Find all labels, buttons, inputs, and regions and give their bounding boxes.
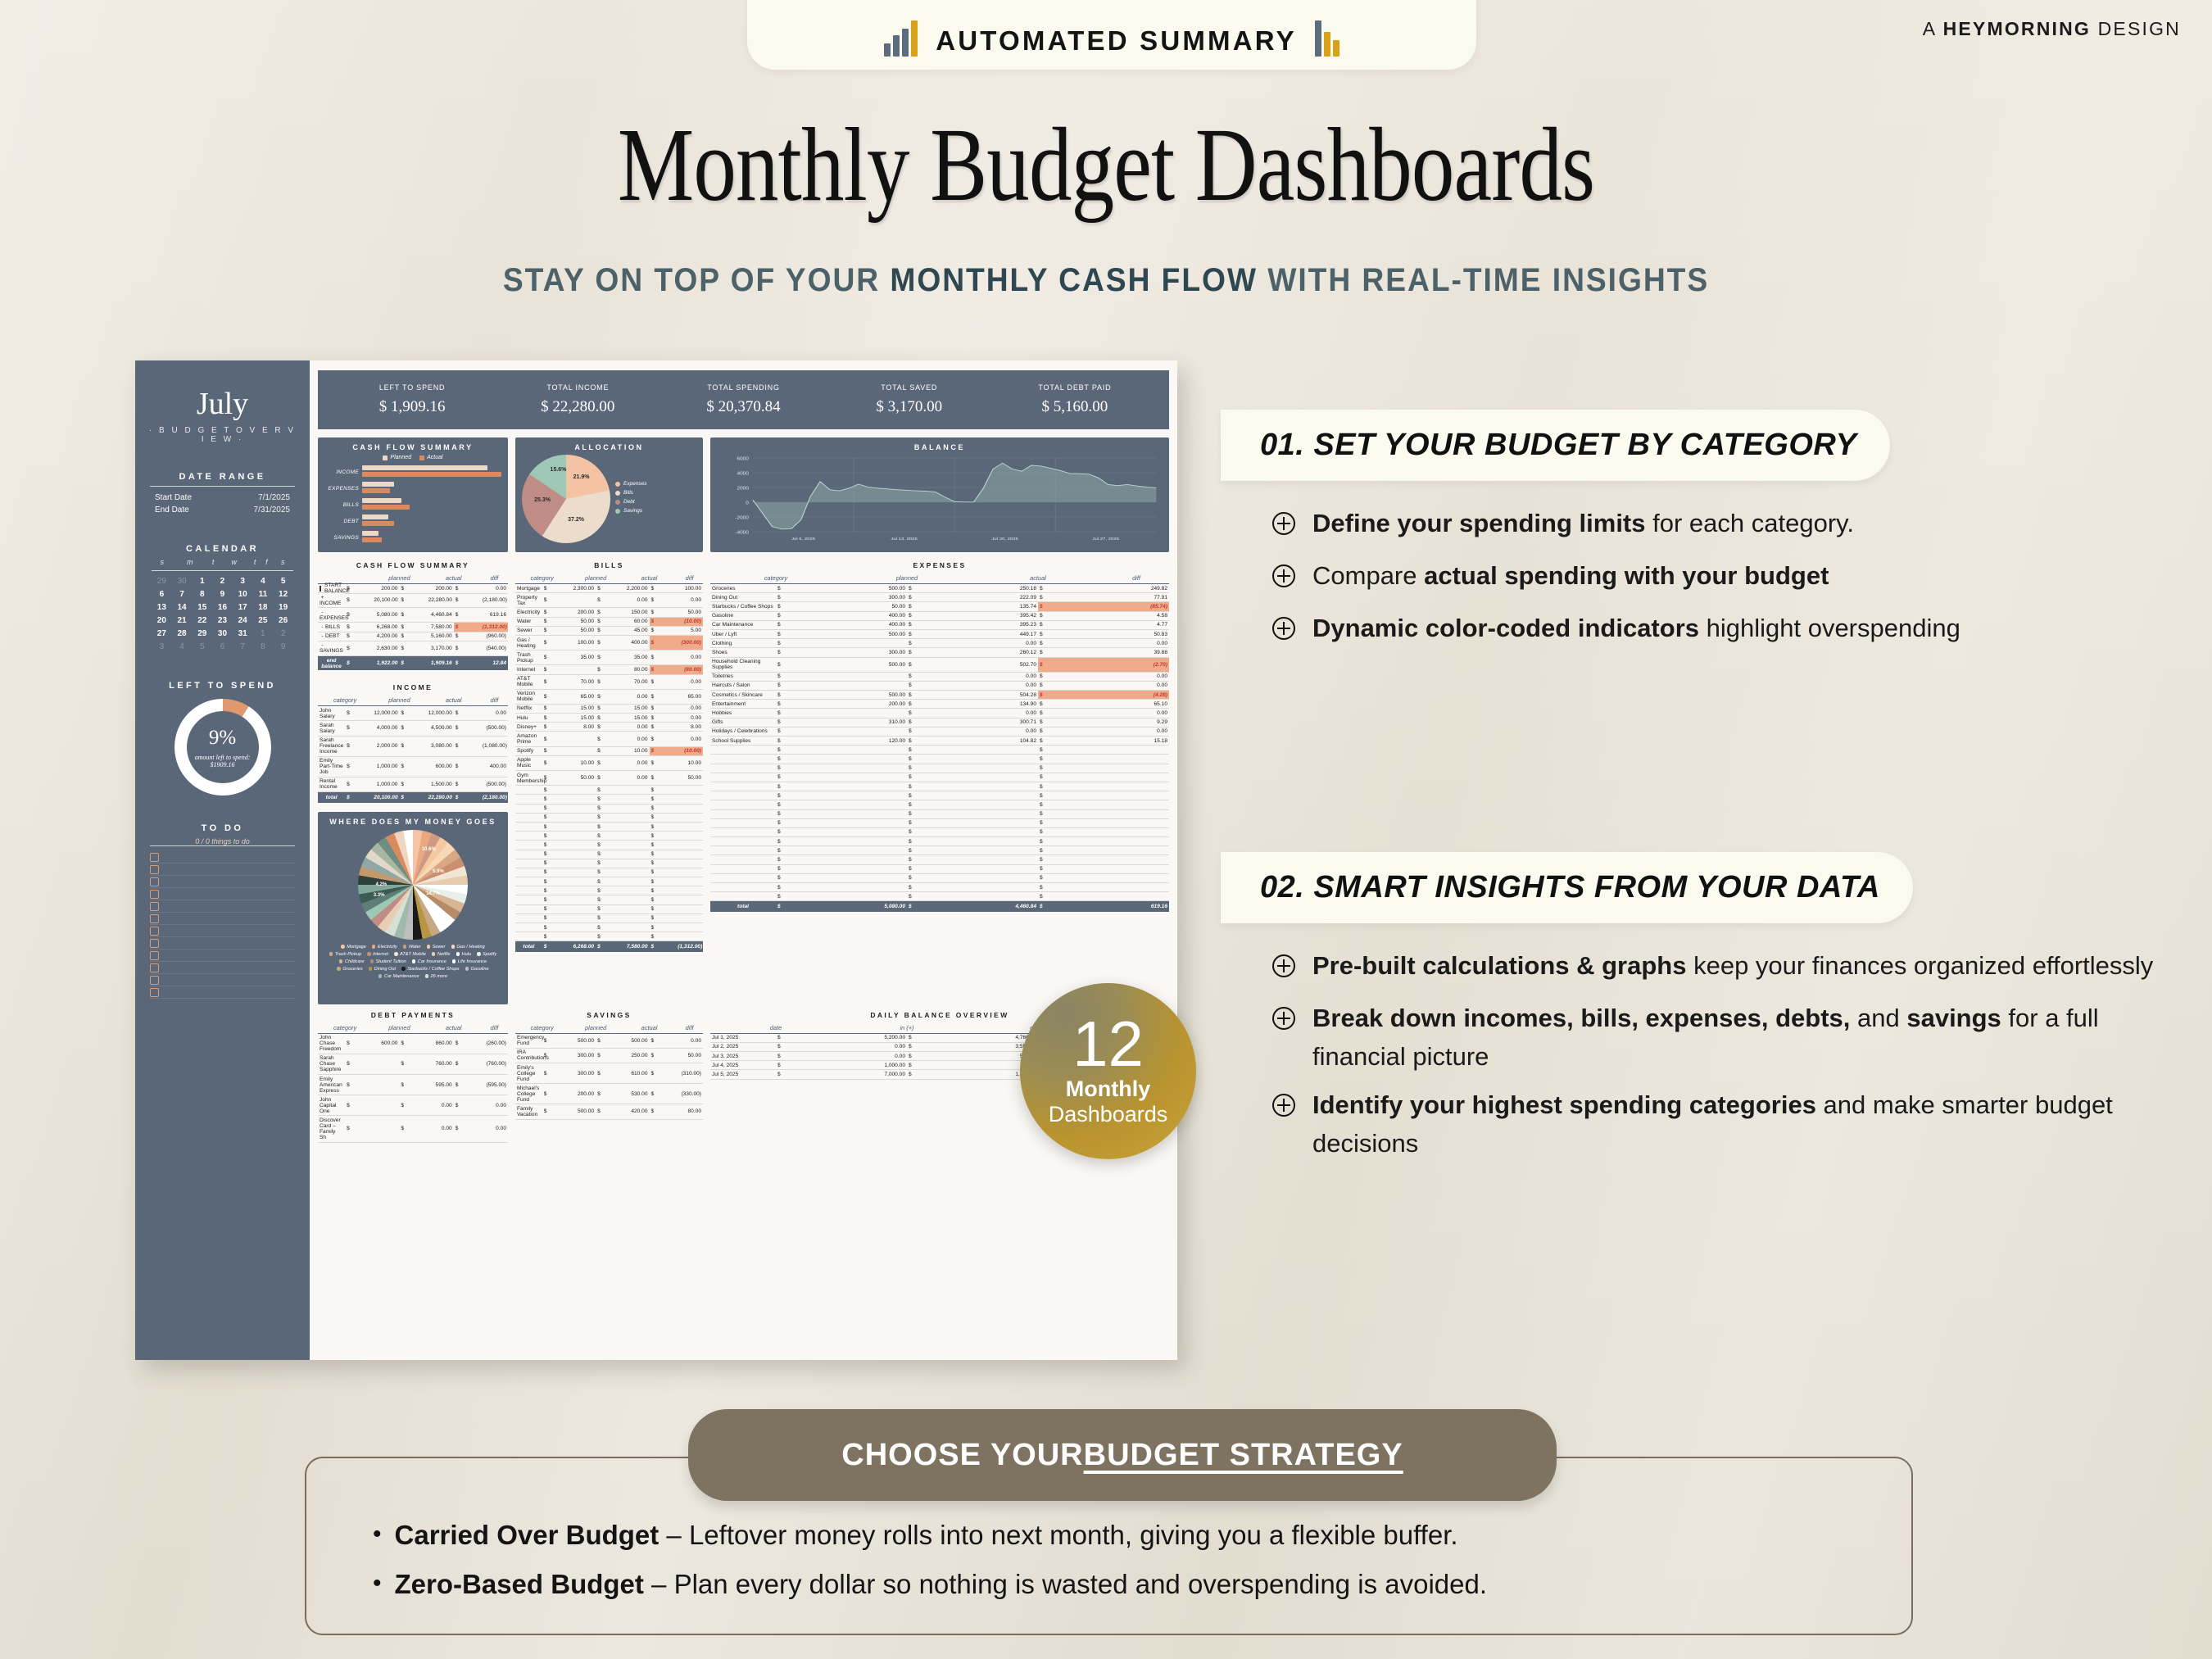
table-row[interactable]: John Capital One$$0.00$0.00	[318, 1095, 508, 1116]
cell-currency: $	[596, 608, 623, 617]
cell-category	[710, 773, 776, 782]
table-row[interactable]: Entertainment$200.00$134.90$65.10	[710, 700, 1169, 709]
dashboard-sidebar: July · B U D G E T O V E R V I E W · DAT…	[135, 360, 310, 1360]
cell-currency: $	[399, 736, 426, 756]
table-row[interactable]: $$$	[515, 886, 703, 895]
kpi-bar: LEFT TO SPEND$ 1,909.16TOTAL INCOME$ 22,…	[318, 370, 1169, 429]
page-title: Monthly Budget Dashboards	[199, 105, 2013, 225]
total-currency: $	[1038, 901, 1104, 912]
calendar-day[interactable]: 5	[192, 640, 212, 653]
table-row[interactable]: $$$	[710, 809, 1169, 818]
cell-currency: $	[907, 1033, 972, 1042]
cell-currency: $	[596, 755, 623, 770]
table-row[interactable]: Emergency Fund$500.00$500.00$0.00	[515, 1033, 703, 1048]
cell-currency: $	[650, 584, 677, 593]
calendar-dow: w	[219, 558, 249, 569]
table-row[interactable]: $$$	[515, 786, 703, 795]
todo-title: TO DO	[145, 823, 300, 833]
cell-value: 0.00	[623, 593, 650, 608]
cell-category	[515, 859, 542, 868]
calendar-day[interactable]: 26	[273, 614, 293, 627]
strategy-tab-bold: BUDGET STRATEGY	[1084, 1438, 1403, 1473]
todo-list[interactable]	[150, 851, 295, 999]
table-row[interactable]: $$$	[515, 795, 703, 804]
todo-item[interactable]	[150, 900, 295, 913]
cell-value	[841, 818, 907, 827]
table-row[interactable]: Sarah Chase Sapphire$$760.00$(760.00)	[318, 1054, 508, 1074]
cell-currency: $	[345, 1033, 372, 1054]
table-row[interactable]: Internet$$80.00$(80.00)	[515, 665, 703, 674]
calendar-day[interactable]: 13	[152, 601, 172, 614]
calendar-day[interactable]: 21	[172, 614, 193, 627]
date-range-title: DATE RANGE	[145, 472, 300, 482]
cell-currency: $	[542, 704, 569, 713]
cell-category: -BILLS	[318, 623, 345, 632]
cell-value: 0.00	[972, 672, 1038, 681]
calendar-day[interactable]: 30	[212, 627, 233, 640]
debt-table[interactable]: categoryplannedactualdiffJohn Chase Free…	[318, 1024, 508, 1143]
feature-1-list: Define your spending limits for each cat…	[1229, 504, 2196, 651]
table-row[interactable]: IRA Contributions$300.00$250.00$50.00	[515, 1048, 703, 1063]
column-header: planned	[372, 1024, 426, 1034]
table-row[interactable]: Family Vacation$500.00$420.00$80.00	[515, 1104, 703, 1119]
savings-table[interactable]: categoryplannedactualdiffEmergency Fund$…	[515, 1024, 703, 1120]
cell-value: 0.00	[1104, 727, 1169, 736]
calendar-day[interactable]: 17	[233, 601, 253, 614]
legend-actual: Actual	[419, 455, 442, 460]
table-row[interactable]: $$$	[515, 813, 703, 822]
table-row[interactable]: $$$	[515, 904, 703, 913]
cell-currency: $	[596, 877, 623, 886]
table-row[interactable]: Gas / Heating$100.00$400.00$(300.00)	[515, 635, 703, 650]
table-row[interactable]: Car Maintenance$400.00$395.23$4.77	[710, 620, 1169, 629]
calendar-day[interactable]: 9	[212, 587, 233, 601]
table-row[interactable]: Sewer$50.00$45.00$5.00	[515, 626, 703, 635]
calendar-day[interactable]: 22	[192, 614, 212, 627]
calendar-day[interactable]: 25	[253, 614, 274, 627]
table-row[interactable]: Hobbies$$0.00$0.00	[710, 709, 1169, 718]
cell-value: 50.00	[676, 608, 703, 617]
table-row[interactable]: Holidays / Celebrations$$0.00$0.00	[710, 727, 1169, 736]
cell-value	[569, 665, 596, 674]
table-row[interactable]: $$$	[710, 883, 1169, 892]
cell-category	[710, 883, 776, 892]
table-header-row: categoryplannedactualdiff	[710, 574, 1169, 584]
calendar-day[interactable]: 19	[273, 601, 293, 614]
calendar[interactable]: smtwtfs 29301234567891011121314151617181…	[152, 558, 293, 653]
calendar-day[interactable]: 27	[152, 627, 172, 640]
cell-category: START BALANCE	[318, 584, 345, 593]
calendar-day[interactable]: 9	[273, 640, 293, 653]
cell-currency: $	[542, 755, 569, 770]
cell-value: 150.00	[623, 608, 650, 617]
table-row[interactable]: $$$	[710, 846, 1169, 855]
checkbox-icon[interactable]	[150, 927, 159, 936]
pie-slice-label: 5.9%	[433, 869, 444, 874]
calendar-day[interactable]: 29	[192, 627, 212, 640]
table-row[interactable]: School Supplies$120.00$104.82$15.18	[710, 737, 1169, 746]
todo-item[interactable]	[150, 925, 295, 937]
cell-value	[1104, 892, 1169, 901]
calendar-day[interactable]: 20	[152, 614, 172, 627]
cell-currency: $	[596, 723, 623, 732]
cashflow-table[interactable]: plannedactualdiffSTART BALANCE$200.00$20…	[318, 574, 508, 670]
checkbox-icon[interactable]	[150, 890, 159, 899]
calendar-day[interactable]: 11	[253, 587, 274, 601]
checkbox-icon[interactable]	[150, 853, 159, 862]
cell-currency: $	[650, 804, 677, 813]
table-row[interactable]: Netflix$15.00$15.00$0.00	[515, 704, 703, 713]
cell-currency: $	[542, 841, 569, 850]
total-currency: $	[399, 792, 426, 803]
calendar-day[interactable]: 24	[233, 614, 253, 627]
table-row[interactable]: Trash Pickup$35.00$35.00$0.00	[515, 650, 703, 665]
calendar-day[interactable]: 3	[233, 574, 253, 587]
cell-category: Gas / Heating	[515, 635, 542, 650]
bar-actual	[362, 537, 382, 542]
svg-text:6000: 6000	[737, 457, 748, 461]
checkbox-icon[interactable]	[320, 586, 321, 592]
cell-value: 504.28	[972, 691, 1038, 700]
debt-table-title: DEBT PAYMENTS	[318, 1011, 508, 1019]
todo-item[interactable]	[150, 950, 295, 962]
table-row[interactable]: $$$	[515, 895, 703, 904]
feature-bullet-text: Break down incomes, bills, expenses, deb…	[1312, 999, 2196, 1076]
kpi-card: TOTAL SAVED$ 3,170.00	[827, 383, 992, 416]
cell-value: 3,080.00	[427, 736, 454, 756]
cell-currency: $	[650, 795, 677, 804]
cell-currency: $	[542, 804, 569, 813]
calendar-day[interactable]: 2	[212, 574, 233, 587]
cell-value: 610.00	[623, 1063, 650, 1083]
plus-circle-icon	[1271, 613, 1296, 651]
end-date-value[interactable]: 7/31/2025	[254, 505, 291, 514]
table-row[interactable]: Emily's College Fund$300.00$610.00$(310.…	[515, 1063, 703, 1083]
cell-currency: $	[399, 1033, 426, 1054]
table-row[interactable]: -EXPENSES$5,080.00$4,460.84$619.16	[318, 608, 508, 623]
kpi-card: LEFT TO SPEND$ 1,909.16	[329, 383, 495, 416]
total-currency: $	[596, 941, 623, 952]
cell-currency: $	[596, 841, 623, 850]
cell-value	[623, 932, 650, 941]
calendar-day[interactable]: 4	[172, 640, 193, 653]
cell-value: 260.12	[972, 648, 1038, 657]
table-row[interactable]: +INCOME$20,100.00$22,280.00$(2,180.00)	[318, 593, 508, 608]
cell-currency: $	[907, 620, 972, 629]
todo-item[interactable]	[150, 962, 295, 974]
table-row[interactable]: $$$	[710, 892, 1169, 901]
table-row[interactable]: Amazon Prime$$0.00$0.00	[515, 732, 703, 746]
table-row[interactable]: $$$	[515, 868, 703, 877]
column-header: diff	[481, 1024, 508, 1034]
checkbox-icon[interactable]	[150, 988, 159, 997]
calendar-day[interactable]: 30	[172, 574, 193, 587]
table-row[interactable]: Gifts$310.00$300.71$9.29	[710, 718, 1169, 727]
cell-currency: $	[650, 1084, 677, 1104]
bar-planned	[362, 498, 401, 503]
table-row[interactable]: $$$	[710, 837, 1169, 846]
table-row[interactable]: Mortgage$2,300.00$2,200.00$100.00	[515, 584, 703, 593]
calendar-day[interactable]: 3	[152, 640, 172, 653]
calendar-day[interactable]: 4	[253, 574, 274, 587]
feature-bullet-text: Define your spending limits for each cat…	[1312, 504, 1854, 542]
table-row[interactable]: Water$50.00$60.00$(10.00)	[515, 617, 703, 626]
table-row[interactable]: Dining Out$300.00$222.09$77.91	[710, 593, 1169, 602]
checkbox-icon[interactable]	[150, 902, 159, 911]
todo-item[interactable]	[150, 888, 295, 900]
checkbox-icon[interactable]	[150, 939, 159, 948]
cell-value: 50.00	[841, 602, 907, 611]
balance-area-chart: 6000400020000-2000-4000Jul 6, 2025Jul 13…	[717, 451, 1163, 543]
cell-value	[841, 681, 907, 690]
table-row[interactable]: John Salary$12,000.00$12,000.00$0.00	[318, 706, 508, 721]
cell-currency: $	[1038, 672, 1104, 681]
cell-category	[710, 755, 776, 764]
cell-value: 50.00	[569, 626, 596, 635]
cell-value	[569, 904, 596, 913]
calendar-day[interactable]: 6	[152, 587, 172, 601]
table-row[interactable]: Rental Income$1,000.00$1,500.00$(500.00)	[318, 777, 508, 791]
table-row[interactable]: Spotify$$10.00$(10.00)	[515, 746, 703, 755]
table-row[interactable]: $$$	[710, 782, 1169, 791]
table-row[interactable]: $$$	[515, 877, 703, 886]
cell-currency: $	[650, 850, 677, 859]
todo-item[interactable]	[150, 986, 295, 999]
cell-value	[972, 892, 1038, 901]
cell-category	[515, 786, 542, 795]
calendar-day[interactable]: 12	[273, 587, 293, 601]
cell-category: Holidays / Celebrations	[710, 727, 776, 736]
cell-currency: $	[907, 892, 972, 901]
cell-value: 200.00	[569, 1084, 596, 1104]
cell-value: 420.00	[623, 1104, 650, 1119]
calendar-day[interactable]: 1	[192, 574, 212, 587]
checkbox-icon[interactable]	[150, 914, 159, 923]
cell-value: 7,580.00	[427, 623, 454, 632]
todo-item[interactable]	[150, 913, 295, 925]
todo-item[interactable]	[150, 937, 295, 950]
checkbox-icon[interactable]	[150, 865, 159, 874]
table-row[interactable]: Starbucks / Coffee Shops$50.00$135.74$(8…	[710, 602, 1169, 611]
cell-value	[972, 846, 1038, 855]
table-row[interactable]: START BALANCE$200.00$200.00$0.00	[318, 584, 508, 594]
calendar-day[interactable]: 10	[233, 587, 253, 601]
cell-currency: $	[650, 877, 677, 886]
table-row[interactable]: $$$	[515, 932, 703, 941]
start-date-value[interactable]: 7/1/2025	[258, 493, 290, 502]
table-row[interactable]: Michael's College Fund$200.00$530.00$(33…	[515, 1084, 703, 1104]
cashflow-bars: INCOMEEXPENSESBILLSDEBTSAVINGS	[324, 465, 501, 544]
table-row[interactable]: Toiletries$$0.00$0.00	[710, 672, 1169, 681]
calendar-day[interactable]: 6	[212, 640, 233, 653]
calendar-day[interactable]: 5	[273, 574, 293, 587]
cell-value	[569, 913, 596, 922]
table-row[interactable]: $$$	[710, 818, 1169, 827]
table-row[interactable]: $$$	[710, 800, 1169, 809]
calendar-day[interactable]: 8	[192, 587, 212, 601]
table-row[interactable]: $$$	[515, 859, 703, 868]
calendar-title: CALENDAR	[145, 544, 300, 554]
cell-currency: $	[596, 913, 623, 922]
legend-entry: Hulu	[456, 952, 472, 957]
table-row[interactable]: John Chase Freedom$600.00$860.00$(260.00…	[318, 1033, 508, 1054]
table-row[interactable]: Household Cleaning Supplies$500.00$502.7…	[710, 657, 1169, 672]
cell-currency: $	[399, 632, 426, 641]
table-row[interactable]: $$$	[710, 855, 1169, 864]
table-row[interactable]: Groceries$500.00$250.18$249.82	[710, 584, 1169, 593]
cell-currency: $	[454, 756, 481, 777]
bar-group: BILLS	[324, 498, 501, 511]
dashboard-preview: July · B U D G E T O V E R V I E W · DAT…	[135, 360, 1177, 1360]
table-row[interactable]: $$$	[710, 827, 1169, 836]
cell-value	[841, 755, 907, 764]
table-row[interactable]: Sarah Freelance Income$2,000.00$3,080.00…	[318, 736, 508, 756]
cell-value: 4,460.84	[427, 608, 454, 623]
table-row[interactable]: Shoes$300.00$260.12$39.88	[710, 648, 1169, 657]
table-row[interactable]: Cosmetics / Skincare$500.00$504.28$(4.28…	[710, 691, 1169, 700]
calendar-day[interactable]: 18	[253, 601, 274, 614]
table-row[interactable]: Gasoline$400.00$395.42$4.58	[710, 611, 1169, 620]
table-row[interactable]: Uber / Lyft$500.00$449.17$50.83	[710, 629, 1169, 638]
legend-entry: Gasoline	[465, 967, 489, 972]
calendar-day[interactable]: 14	[172, 601, 193, 614]
calendar-day[interactable]: 7	[233, 640, 253, 653]
table-row[interactable]: $$$	[710, 791, 1169, 800]
table-row[interactable]: $$$	[515, 832, 703, 841]
todo-item[interactable]	[150, 876, 295, 888]
table-row[interactable]: Property Tax$$0.00$0.00	[515, 593, 703, 608]
table-row[interactable]: AT&T Mobile$70.00$70.00$0.00	[515, 674, 703, 689]
cell-category: John Chase Freedom	[318, 1033, 345, 1054]
table-row[interactable]: $$$	[710, 873, 1169, 882]
cell-value: 200.00	[569, 608, 596, 617]
kpi-label: TOTAL DEBT PAID	[992, 383, 1158, 392]
cell-currency: $	[596, 593, 623, 608]
calendar-day[interactable]: 23	[212, 614, 233, 627]
calendar-day[interactable]: 2	[273, 627, 293, 640]
legend-entry: Netflix	[432, 952, 451, 957]
table-row[interactable]: Hulu$15.00$15.00$0.00	[515, 714, 703, 723]
cell-value: 619.16	[481, 608, 508, 623]
cell-currency: $	[650, 665, 677, 674]
calendar-day[interactable]: 31	[233, 627, 253, 640]
table-row[interactable]: Verizon Mobile$65.00$0.00$65.00	[515, 689, 703, 704]
table-row[interactable]: Emily American Express$$595.00$(595.00)	[318, 1074, 508, 1095]
feature-bullet: Break down incomes, bills, expenses, deb…	[1271, 999, 2196, 1076]
table-row[interactable]: $$$	[515, 822, 703, 831]
cell-currency: $	[542, 886, 569, 895]
cell-category	[710, 764, 776, 773]
cell-currency: $	[650, 822, 677, 831]
table-row[interactable]: Electricity$200.00$150.00$50.00	[515, 608, 703, 617]
legend-entry: Trash Pickup	[329, 952, 361, 957]
cell-currency: $	[1038, 746, 1104, 755]
cell-currency: $	[596, 732, 623, 746]
table-row[interactable]: -DEBT$4,200.00$5,160.00$(960.00)	[318, 632, 508, 641]
table-row[interactable]: $$$	[710, 864, 1169, 873]
cell-value: (10.00)	[676, 746, 703, 755]
table-row[interactable]: Disney+$8.00$0.00$8.00	[515, 723, 703, 732]
cell-value	[676, 804, 703, 813]
cell-value: 222.09	[972, 593, 1038, 602]
table-row[interactable]: $$$	[515, 923, 703, 932]
cell-value: 0.00	[676, 650, 703, 665]
bills-table[interactable]: categoryplannedactualdiffMortgage$2,300.…	[515, 574, 703, 952]
strategy-bullet-text: Carried Over Budget – Leftover money rol…	[395, 1520, 1458, 1551]
checkbox-icon[interactable]	[150, 951, 159, 960]
calendar-day[interactable]: 15	[192, 601, 212, 614]
table-row[interactable]: $$$	[710, 746, 1169, 755]
table-row[interactable]: Emily Part-Time Job$1,000.00$600.00$400.…	[318, 756, 508, 777]
cell-value: (595.00)	[481, 1074, 508, 1095]
calendar-day[interactable]: 1	[253, 627, 274, 640]
money-pie-title: WHERE DOES MY MONEY GOES	[324, 818, 501, 826]
todo-item[interactable]	[150, 851, 295, 863]
cell-value: 2,630.00	[372, 641, 399, 655]
table-row[interactable]: $$$	[515, 913, 703, 922]
cell-currency: $	[650, 786, 677, 795]
table-total-row: total$5,080.00$4,460.84$619.16	[710, 901, 1169, 912]
cell-category	[515, 832, 542, 841]
cell-currency: $	[907, 629, 972, 638]
cell-currency: $	[907, 611, 972, 620]
cell-currency: $	[907, 691, 972, 700]
table-row[interactable]: Discover Card – Family Sh$$0.00$0.00	[318, 1116, 508, 1142]
cell-currency: $	[596, 746, 623, 755]
table-row[interactable]: Gym Membership$50.00$0.00$50.00	[515, 771, 703, 786]
cell-currency: $	[650, 895, 677, 904]
table-row[interactable]: $$$	[710, 773, 1169, 782]
cell-value: 0.00	[972, 727, 1038, 736]
calendar-day[interactable]: 29	[152, 574, 172, 587]
calendar-dow: m	[172, 558, 206, 569]
checkbox-icon[interactable]	[150, 963, 159, 972]
cell-currency: $	[776, 620, 841, 629]
cell-currency: $	[776, 691, 841, 700]
calendar-day[interactable]: 28	[172, 627, 193, 640]
table-row[interactable]: -SAVINGS$2,630.00$3,170.00$(540.00)	[318, 641, 508, 655]
table-row[interactable]: $$$	[515, 841, 703, 850]
cell-currency: $	[776, 818, 841, 827]
table-row[interactable]: $$$	[515, 850, 703, 859]
income-table[interactable]: categoryplannedactualdiffJohn Salary$12,…	[318, 696, 508, 802]
total-currency: $	[345, 655, 372, 670]
cell-value: 300.71	[972, 718, 1038, 727]
todo-item[interactable]	[150, 974, 295, 986]
cell-currency: $	[1038, 593, 1104, 602]
table-row[interactable]: Haircuts / Salon$$0.00$0.00	[710, 681, 1169, 690]
expenses-table[interactable]: categoryplannedactualdiffGroceries$500.0…	[710, 574, 1169, 912]
checkbox-icon[interactable]	[150, 976, 159, 985]
table-row[interactable]: Apple Music$10.00$0.00$10.00	[515, 755, 703, 770]
todo-item[interactable]	[150, 863, 295, 876]
table-row[interactable]: $$$	[515, 804, 703, 813]
bar-group: INCOME	[324, 465, 501, 478]
cell-currency: $	[596, 771, 623, 786]
calendar-day[interactable]: 8	[253, 640, 274, 653]
table-row[interactable]: -BILLS$6,268.00$7,580.00$(1,312.00)	[318, 623, 508, 632]
cell-value	[569, 923, 596, 932]
calendar-day[interactable]: 16	[212, 601, 233, 614]
table-row[interactable]: Clothing$$0.00$0.00	[710, 639, 1169, 648]
checkbox-icon[interactable]	[150, 877, 159, 886]
cell-currency: $	[542, 786, 569, 795]
cell-value: 5,200.00	[841, 1033, 907, 1042]
table-row[interactable]: $$$	[710, 764, 1169, 773]
table-row[interactable]: Sarah Salary$4,000.00$4,500.00$(500.00)	[318, 721, 508, 736]
table-row[interactable]: $$$	[710, 755, 1169, 764]
calendar-day[interactable]: 7	[172, 587, 193, 601]
